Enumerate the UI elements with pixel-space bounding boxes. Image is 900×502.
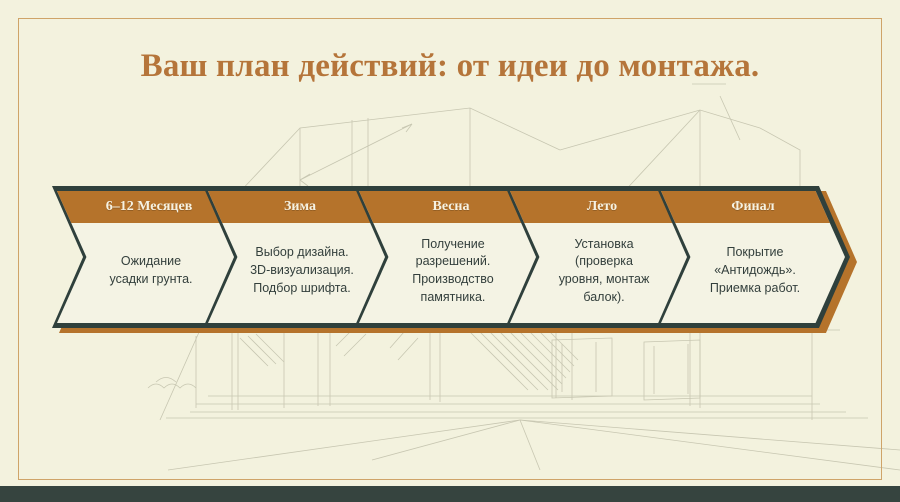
step-header-band: Финал: [661, 191, 845, 223]
step-description: Выбор дизайна.3D-визуализация.Подбор шри…: [250, 244, 354, 297]
step-description: Получениеразрешений.Производствопамятник…: [412, 236, 494, 307]
bottom-accent-bar: [0, 486, 900, 502]
step-description: Покрытие«Антидождь».Приемка работ.: [710, 244, 800, 297]
poster-canvas: Ваш план действий: от идеи до монтажа. 6…: [0, 0, 900, 502]
step-label: Зима: [284, 199, 316, 215]
step-label: 6–12 Месяцев: [106, 199, 193, 215]
step-description: Ожиданиеусадки грунта.: [109, 253, 192, 289]
step-description: Установка(проверкауровня, монтажбалок).: [559, 236, 650, 307]
page-title: Ваш план действий: от идеи до монтажа.: [0, 48, 900, 85]
process-flow: 6–12 Месяцев Ожиданиеусадки грунта. Зима…: [52, 186, 852, 328]
step-label: Лето: [587, 199, 617, 215]
step-body: Покрытие«Антидождь».Приемка работ.: [661, 223, 845, 323]
step-label: Весна: [432, 199, 469, 215]
step-label: Финал: [731, 199, 774, 215]
flow-step-5[interactable]: Финал Покрытие«Антидождь».Приемка работ.: [656, 186, 850, 328]
